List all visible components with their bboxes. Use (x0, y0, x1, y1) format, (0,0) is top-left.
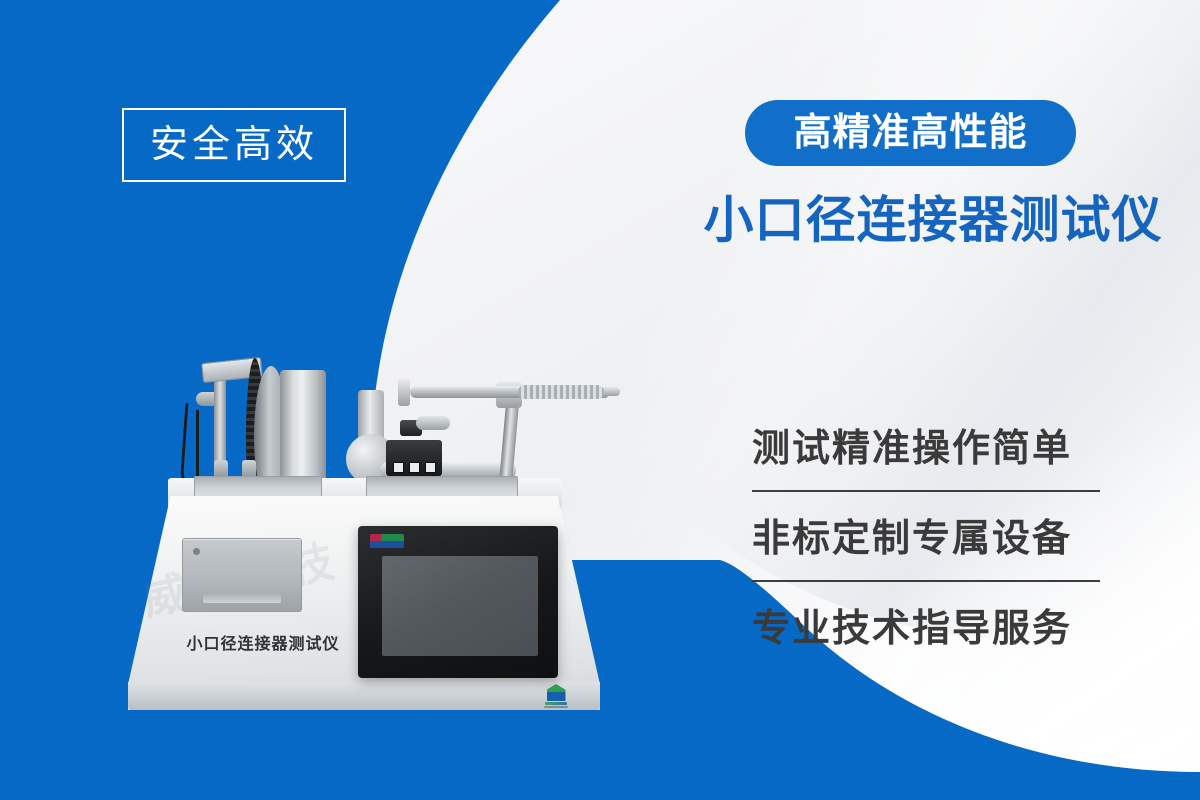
logo-mark-icon (547, 684, 566, 701)
logo-subtext (544, 706, 568, 708)
control-button-1 (393, 462, 404, 473)
panel-slot (203, 594, 281, 603)
page-title: 小口径连接器测试仪 (668, 193, 1198, 248)
feature-divider-2 (752, 580, 1100, 582)
machine-front-label: 小口径连接器测试仪 (158, 630, 368, 654)
manufacturer-logo (542, 682, 570, 710)
product-banner: 安全高效 (0, 0, 1200, 800)
highlight-pill-label: 高精准高性能 (793, 114, 1027, 152)
hmi-badge-top-band (370, 534, 404, 541)
feature-item-1: 测试精准操作简单 (752, 418, 1172, 508)
hmi-badge-bottom-band (370, 541, 404, 548)
logo-wordmark (545, 702, 567, 705)
hmi-screen-area[interactable] (382, 556, 538, 656)
feature-item-2: 非标定制专属设备 (752, 508, 1172, 598)
control-button-2 (409, 462, 420, 473)
control-button-3 (425, 462, 436, 473)
feature-label-3: 专业技术指导服务 (752, 598, 1172, 660)
highlight-pill: 高精准高性能 (745, 100, 1076, 166)
feature-list: 测试精准操作简单 非标定制专属设备 专业技术指导服务 (752, 418, 1172, 688)
safety-badge-label: 安全高效 (150, 126, 318, 164)
control-block (386, 440, 442, 476)
access-panel (182, 538, 302, 612)
feature-label-1: 测试精准操作简单 (752, 418, 1172, 480)
machine-illustration: 威夏科技 小口径连接器测试仪 (110, 330, 670, 750)
feature-item-3: 专业技术指导服务 (752, 598, 1172, 688)
handle-cap (398, 378, 410, 406)
micrometer-head (416, 416, 450, 430)
hmi-touchscreen[interactable] (358, 526, 558, 678)
right-content-column: 高精准高性能 小口径连接器测试仪 测试精准操作简单 非标定制专属设备 专业技术指… (660, 0, 1200, 800)
handle-knurl (518, 385, 604, 399)
panel-screw (193, 548, 200, 555)
safety-badge: 安全高效 (122, 108, 346, 182)
feature-label-2: 非标定制专属设备 (752, 508, 1172, 570)
handle-tip (604, 387, 620, 396)
machine-base-lip (128, 682, 600, 710)
feature-divider-1 (752, 490, 1100, 492)
hmi-brand-badge (370, 534, 404, 548)
